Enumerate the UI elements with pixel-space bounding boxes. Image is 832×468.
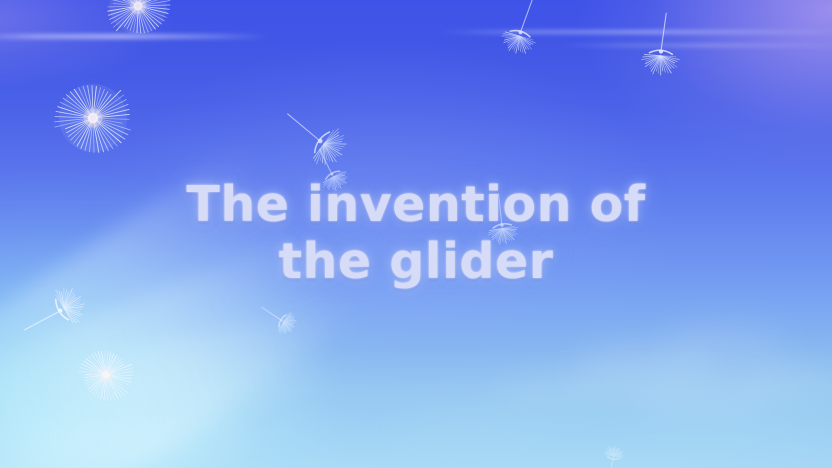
title-card-scene: The invention of the glider bbox=[0, 0, 832, 468]
sky-bottom-haze bbox=[0, 348, 832, 468]
